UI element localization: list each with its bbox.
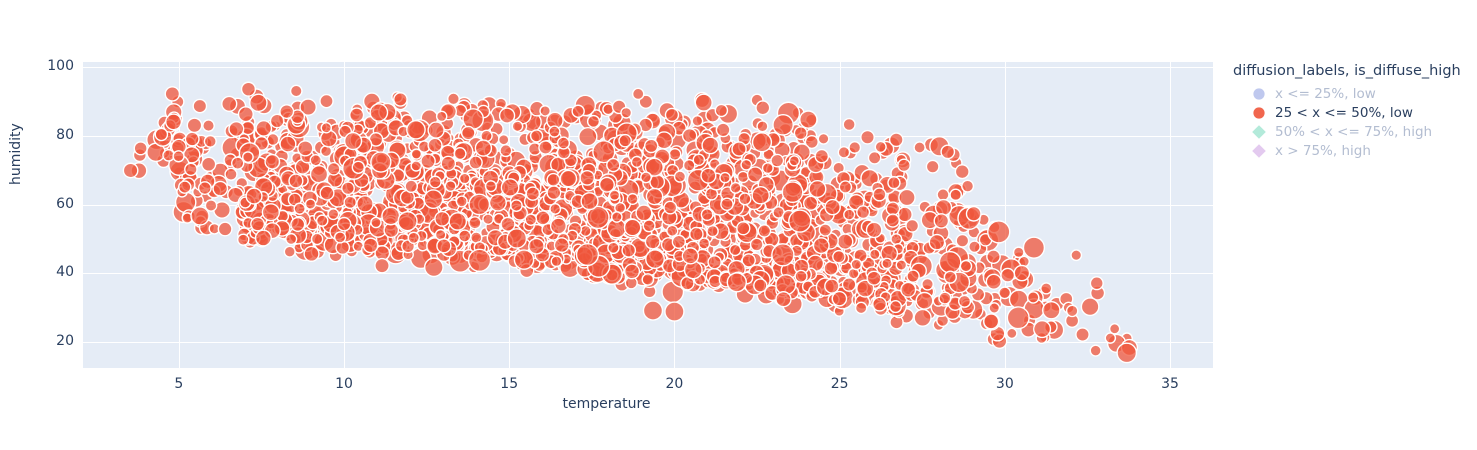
x-tick-label-20: 20 [644, 376, 704, 392]
legend-marker-diamond-icon [1247, 141, 1271, 160]
legend-item-0[interactable]: x <= 25%, low [1247, 84, 1473, 103]
legend-title: diffusion_labels, is_diffuse_high [1233, 63, 1473, 79]
y-tick-label-20: 20 [0, 333, 74, 349]
x-tick-label-5: 5 [149, 376, 209, 392]
x-tick-label-10: 10 [314, 376, 374, 392]
scatter-points-layer[interactable] [83, 62, 1213, 368]
scatter-plot-figure: 20406080100 5101520253035 temperature hu… [0, 0, 1477, 450]
y-tick-label-40: 40 [0, 264, 74, 280]
legend-marker-circle-icon [1247, 84, 1271, 103]
legend-item-label: x <= 25%, low [1275, 86, 1376, 102]
x-tick-label-30: 30 [975, 376, 1035, 392]
x-tick-label-15: 15 [479, 376, 539, 392]
legend-item-label: 25 < x <= 50%, low [1275, 105, 1413, 121]
legend-item-label: x > 75%, high [1275, 143, 1371, 159]
y-tick-label-100: 100 [0, 58, 74, 74]
x-axis-title: temperature [0, 396, 1213, 412]
legend-item-label: 50% < x <= 75%, high [1275, 124, 1432, 140]
legend: diffusion_labels, is_diffuse_high x <= 2… [1233, 63, 1473, 160]
legend-marker-circle-icon [1247, 103, 1271, 122]
x-tick-label-35: 35 [1140, 376, 1200, 392]
plot-area[interactable] [83, 62, 1213, 368]
legend-item-1[interactable]: 25 < x <= 50%, low [1247, 103, 1473, 122]
legend-item-3[interactable]: x > 75%, high [1247, 141, 1473, 160]
y-axis-title: humidity [8, 123, 24, 185]
legend-item-2[interactable]: 50% < x <= 75%, high [1247, 122, 1473, 141]
x-tick-label-25: 25 [810, 376, 870, 392]
y-tick-label-60: 60 [0, 196, 74, 212]
legend-marker-diamond-icon [1247, 122, 1271, 141]
legend-items: x <= 25%, low25 < x <= 50%, low50% < x <… [1233, 84, 1473, 160]
